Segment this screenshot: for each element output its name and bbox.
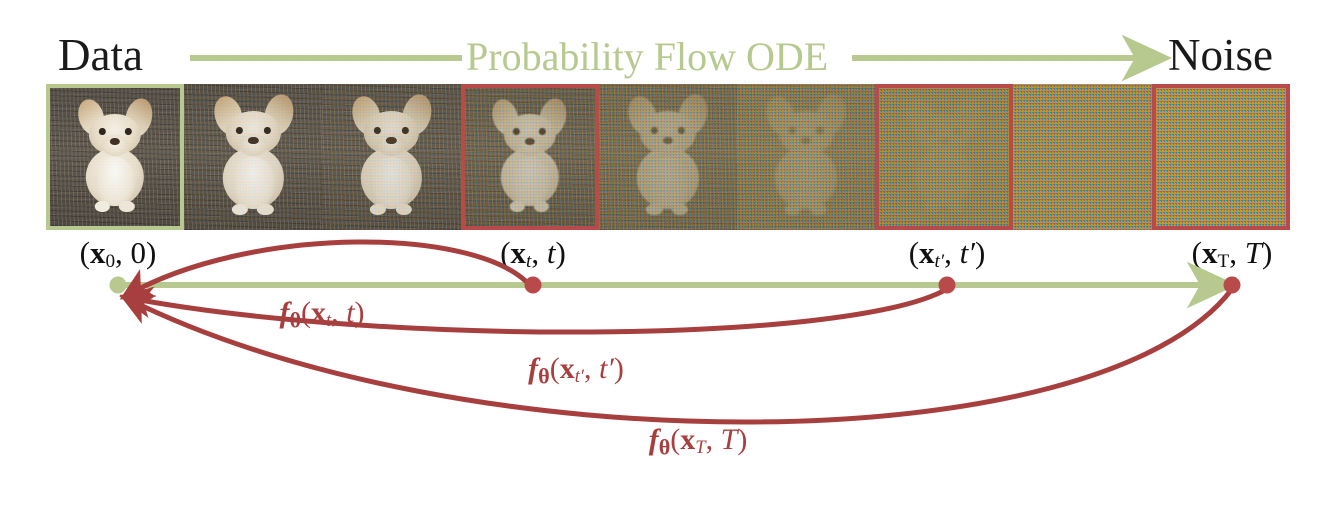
timeline-label-x0: (x0, 0) (80, 235, 157, 280)
strip-frame-6 (875, 84, 1013, 230)
dog-subject (340, 96, 442, 224)
dog-part-eye-r (1093, 127, 1100, 135)
strip-frame-inner (1013, 84, 1151, 230)
timeline-label-xtp: (xt′, t′) (909, 235, 986, 280)
dog-part-eye-r (125, 128, 132, 135)
dog-part-paw-r (257, 204, 273, 216)
curve-label-f-xtp: fθ(xt′, t′) (528, 352, 624, 394)
dog-part-paw-r (396, 204, 412, 216)
strip-frame-1 (184, 84, 322, 230)
header-label-noise: Noise (1168, 28, 1273, 82)
consistency-curve-f-xtp (124, 289, 947, 332)
dog-part-paw-l (646, 204, 662, 216)
dog-part-eye-l (513, 128, 520, 135)
strip-frame-2 (322, 84, 460, 230)
dog-part-eye-l (650, 127, 657, 135)
dog-subject (202, 96, 304, 224)
dog-part-paw-l (924, 201, 939, 212)
dog-part-eye-l (928, 128, 935, 135)
dog-part-eye-r (678, 127, 685, 135)
dog-part-nose (248, 137, 258, 145)
timeline-nodes (110, 277, 1241, 294)
curve-label-f-xt: fθ(xt, t) (279, 296, 364, 338)
dog-subject (617, 96, 719, 224)
dog-part-chest (1200, 157, 1240, 206)
dog-part-paw-r (948, 201, 963, 212)
strip-frame-inner (737, 84, 875, 230)
strip-frame-inner (1156, 88, 1286, 226)
strip-frame-5 (737, 84, 875, 230)
dog-part-chest (646, 157, 689, 208)
dog-part-eye-l (236, 127, 243, 135)
dog-part-nose (110, 138, 120, 145)
dog-part-paw-r (810, 204, 826, 216)
dog-part-eye-r (264, 127, 271, 135)
strip-frame-inner (184, 84, 322, 230)
dog-part-nose (939, 138, 949, 145)
dog-part-paw-l (95, 201, 110, 212)
dog-part-chest (785, 157, 828, 208)
timeline-label-xT: (xT, T) (1192, 235, 1273, 280)
dog-part-paw-l (509, 201, 524, 212)
figure-root: Data Probability Flow ODE Noise (x0, 0)(… (0, 0, 1336, 506)
dog-part-chest (370, 157, 413, 208)
dog-part-paw-r (534, 201, 549, 212)
curve-label-f-xT: fθ(xT, T) (649, 423, 748, 465)
dog-part-eye-l (99, 128, 106, 135)
dog-part-eye-r (954, 128, 961, 135)
dog-part-paw-r (1224, 201, 1239, 212)
dog-part-eye-l (1065, 127, 1072, 135)
dog-part-chest (232, 157, 275, 208)
header-row: Data Probability Flow ODE Noise (0, 22, 1336, 84)
dog-part-eye-l (374, 127, 381, 135)
strip-frame-inner (599, 84, 737, 230)
strip-frame-4 (599, 84, 737, 230)
strip-frame-inner (50, 88, 180, 226)
dog-part-paw-l (1200, 201, 1215, 212)
dog-part-paw-l (232, 204, 248, 216)
dog-part-paw-l (370, 204, 386, 216)
dog-part-chest (509, 157, 549, 206)
strip-frame-inner (322, 84, 460, 230)
dog-subject (1031, 96, 1133, 224)
dog-subject (896, 99, 992, 220)
dog-part-nose (525, 138, 535, 145)
dog-part-paw-l (785, 204, 801, 216)
dog-part-eye-l (789, 127, 796, 135)
consistency-curve-f-xt (124, 242, 533, 297)
dog-part-eye-r (816, 127, 823, 135)
dog-part-nose (1077, 137, 1087, 145)
dog-part-chest (95, 157, 135, 206)
strip-frame-3 (461, 84, 599, 230)
strip-frame-7 (1013, 84, 1151, 230)
header-label-data: Data (58, 28, 143, 82)
dog-part-nose (663, 137, 673, 145)
dog-part-eye-r (1230, 128, 1237, 135)
dog-subject (481, 99, 577, 220)
dog-subject (67, 99, 163, 220)
dog-part-chest (924, 157, 964, 206)
dog-part-paw-r (1086, 204, 1102, 216)
dog-part-eye-r (539, 128, 546, 135)
dog-subject (755, 96, 857, 224)
strip-frame-inner (879, 88, 1009, 226)
dog-part-nose (386, 137, 396, 145)
dog-part-eye-l (1204, 128, 1211, 135)
strip-frame-inner (465, 88, 595, 226)
strip-frame-0 (46, 84, 184, 230)
dog-part-paw-r (672, 204, 688, 216)
header-label-probability-flow-ode: Probability Flow ODE (466, 32, 828, 82)
dog-part-paw-r (119, 201, 134, 212)
timeline-label-xt: (xt, t) (500, 235, 566, 280)
dog-part-eye-r (402, 127, 409, 135)
strip-frame-8 (1152, 84, 1290, 230)
dog-part-chest (1061, 157, 1104, 208)
dog-part-nose (801, 137, 811, 145)
dog-part-nose (1216, 138, 1226, 145)
dog-part-paw-l (1061, 204, 1077, 216)
noise-progression-strip (46, 84, 1290, 230)
